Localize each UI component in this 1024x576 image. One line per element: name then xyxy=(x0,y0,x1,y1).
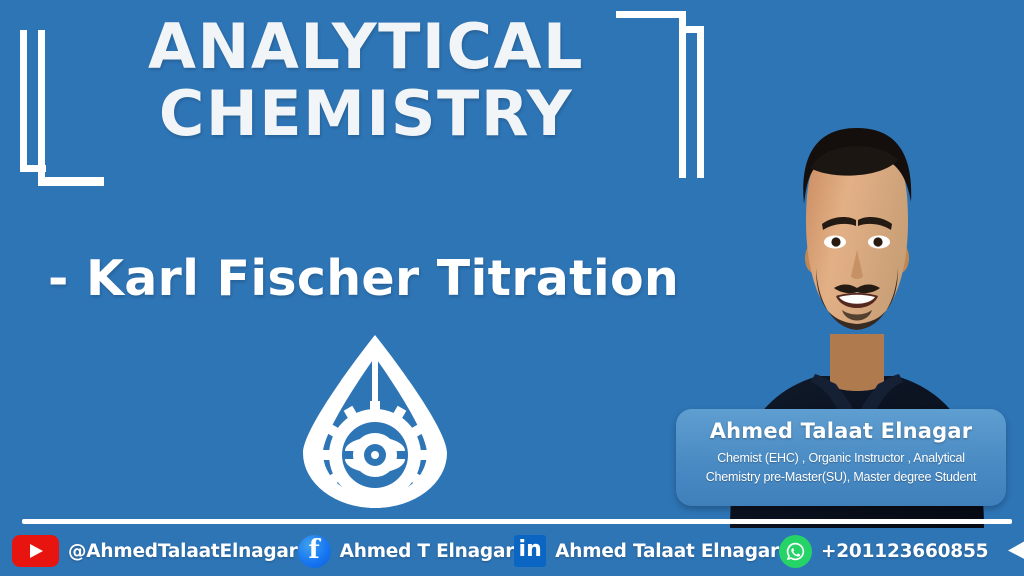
presenter-role-line-2: Chemistry pre-Master(SU), Master degree … xyxy=(676,468,1006,487)
facebook-icon: f xyxy=(298,535,331,568)
presenter-role: Chemist (EHC) , Organic Instructor , Ana… xyxy=(676,449,1006,487)
left-arrow-icon xyxy=(1006,534,1024,568)
slide-canvas: ANALYTICAL CHEMISTRY - Karl Fischer Titr… xyxy=(0,0,1024,576)
social-item-facebook[interactable]: f Ahmed T Elnagar xyxy=(298,526,515,576)
whatsapp-number: +201123660855 xyxy=(821,541,988,562)
presenter-name-card: Ahmed Talaat Elnagar Chemist (EHC) , Org… xyxy=(676,409,1006,506)
youtube-icon xyxy=(12,535,59,567)
presenter-role-line-1: Chemist (EHC) , Organic Instructor , Ana… xyxy=(676,449,1006,468)
linkedin-icon: in xyxy=(514,535,546,567)
water-droplet-gear-icon xyxy=(295,333,455,508)
youtube-handle: @AhmedTalaatElnagar xyxy=(68,541,298,562)
social-bar: @AhmedTalaatElnagar f Ahmed T Elnagar in… xyxy=(0,526,1024,576)
social-item-youtube[interactable]: @AhmedTalaatElnagar xyxy=(12,526,298,576)
presenter-name: Ahmed Talaat Elnagar xyxy=(676,419,1006,443)
social-item-whatsapp[interactable]: +201123660855 xyxy=(779,526,988,576)
facebook-handle: Ahmed T Elnagar xyxy=(340,541,515,562)
social-item-linkedin[interactable]: in Ahmed Talaat Elnagar xyxy=(514,526,779,576)
page-title-line-1: ANALYTICAL xyxy=(96,14,636,81)
footer-divider xyxy=(22,519,1012,524)
page-title-line-2: CHEMISTRY xyxy=(96,81,636,148)
linkedin-handle: Ahmed Talaat Elnagar xyxy=(555,541,779,562)
corner-bracket-left-icon xyxy=(6,8,110,186)
page-subtitle: - Karl Fischer Titration xyxy=(48,250,679,307)
whatsapp-icon xyxy=(779,535,812,568)
page-title: ANALYTICAL CHEMISTRY xyxy=(96,14,636,148)
